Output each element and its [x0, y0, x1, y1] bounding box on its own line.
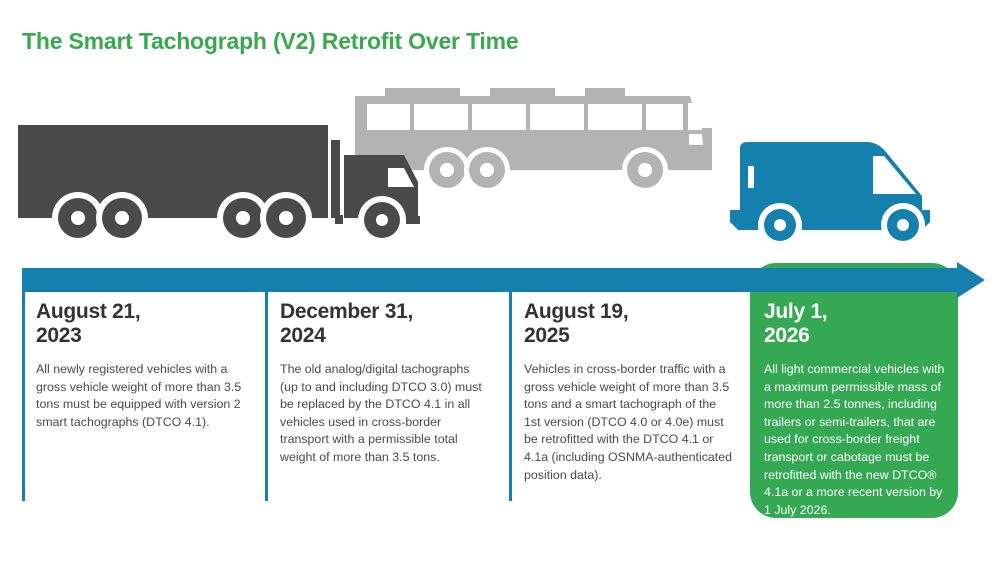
van-illustration — [730, 142, 930, 247]
milestone-card-3: July 1, 2026 All light commercial vehicl… — [764, 300, 950, 520]
timeline-bar — [22, 268, 959, 292]
milestone-date-line2-0: 2023 — [36, 324, 244, 348]
milestone-date-line2-2: 2025 — [524, 324, 732, 348]
milestone-body-0: All newly registered vehicles with a gro… — [36, 361, 244, 431]
timeline-divider-0 — [22, 288, 25, 501]
timeline-arrow-icon — [957, 262, 985, 298]
timeline-divider-2 — [509, 288, 512, 501]
milestone-body-2: Vehicles in cross-border traffic with a … — [524, 361, 732, 484]
milestone-card-0: August 21, 2023 All newly registered veh… — [36, 300, 244, 431]
milestone-date-line2-1: 2024 — [280, 324, 488, 348]
milestone-date-line1-2: August 19, — [524, 300, 628, 323]
milestone-body-1: The old analog/digital tachographs (up t… — [280, 361, 488, 467]
milestone-date-2: August 19, 2025 — [524, 300, 732, 347]
milestone-body-3: All light commercial vehicles with a max… — [764, 361, 950, 519]
page-title: The Smart Tachograph (V2) Retrofit Over … — [22, 28, 518, 55]
timeline-divider-1 — [265, 288, 268, 501]
milestone-date-0: August 21, 2023 — [36, 300, 244, 347]
milestone-date-line1-1: December 31, — [280, 300, 413, 323]
milestone-card-2: August 19, 2025 Vehicles in cross-border… — [524, 300, 732, 484]
milestone-date-line1-3: July 1, — [764, 300, 827, 323]
milestone-date-1: December 31, 2024 — [280, 300, 488, 347]
vehicle-illustrations — [0, 70, 1000, 270]
milestone-card-1: December 31, 2024 The old analog/digital… — [280, 300, 488, 467]
milestone-date-line1-0: August 21, — [36, 300, 140, 323]
milestone-date-line2-3: 2026 — [764, 324, 950, 348]
milestone-date-3: July 1, 2026 — [764, 300, 950, 347]
